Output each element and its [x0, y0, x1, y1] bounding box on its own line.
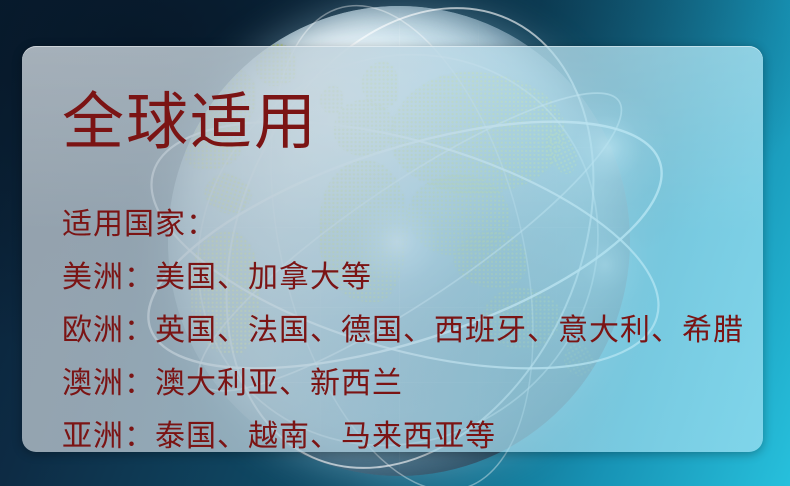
region-line-americas: 美洲：美国、加拿大等 — [62, 251, 744, 304]
country-list-label: 适用国家： — [62, 198, 744, 251]
page-title: 全球适用 — [62, 92, 318, 154]
region-line-asia: 亚洲：泰国、越南、马来西亚等 — [62, 410, 744, 452]
panel-content: 全球适用 适用国家： 美洲：美国、加拿大等 欧洲：英国、法国、德国、西班牙、意大… — [22, 46, 763, 452]
banner-canvas: 全球适用 适用国家： 美洲：美国、加拿大等 欧洲：英国、法国、德国、西班牙、意大… — [0, 0, 790, 486]
region-line-europe: 欧洲：英国、法国、德国、西班牙、意大利、希腊 — [62, 304, 744, 357]
content-panel: 全球适用 适用国家： 美洲：美国、加拿大等 欧洲：英国、法国、德国、西班牙、意大… — [22, 46, 763, 452]
country-list: 适用国家： 美洲：美国、加拿大等 欧洲：英国、法国、德国、西班牙、意大利、希腊 … — [62, 198, 744, 452]
region-line-oceania: 澳洲：澳大利亚、新西兰 — [62, 357, 744, 410]
